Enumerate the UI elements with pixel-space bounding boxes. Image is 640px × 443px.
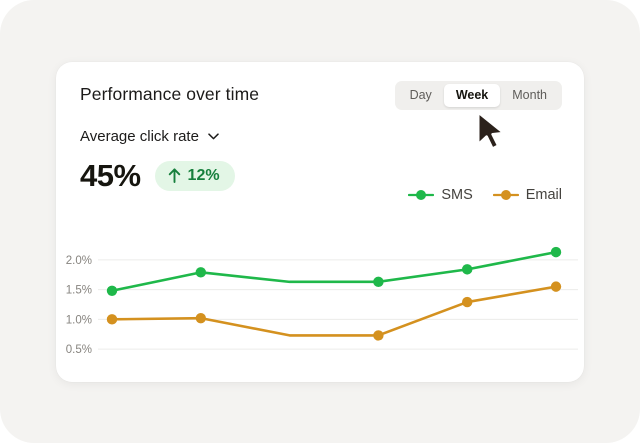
data-point-email[interactable]	[551, 281, 561, 291]
page-root: Performance over time Day Week Month Ave…	[0, 0, 640, 443]
data-point-sms[interactable]	[107, 286, 117, 296]
series-line-sms	[112, 252, 556, 291]
data-point-sms[interactable]	[462, 264, 472, 274]
data-point-sms[interactable]	[551, 247, 561, 257]
chart-legend: SMS Email	[408, 187, 562, 203]
metric-value-row: 45% 12%	[80, 160, 235, 191]
chart-canvas: 0.5%1.0%1.5%2.0%	[56, 230, 584, 370]
tab-month[interactable]: Month	[500, 84, 559, 107]
legend-label-email: Email	[526, 187, 562, 203]
metric-selector-label: Average click rate	[80, 128, 199, 145]
data-point-email[interactable]	[462, 297, 472, 307]
performance-card: Performance over time Day Week Month Ave…	[56, 62, 584, 382]
data-point-email[interactable]	[373, 330, 383, 340]
range-tabs[interactable]: Day Week Month	[395, 81, 562, 110]
chart-series-layer	[107, 247, 561, 341]
tab-week[interactable]: Week	[444, 84, 500, 107]
delta-value: 12%	[188, 168, 220, 184]
legend-marker-email-icon	[493, 189, 519, 201]
legend-label-sms: SMS	[441, 187, 472, 203]
data-point-sms[interactable]	[373, 277, 383, 287]
data-point-email[interactable]	[196, 313, 206, 323]
tab-day[interactable]: Day	[398, 84, 444, 107]
series-line-email	[112, 287, 556, 336]
y-axis-tick-label: 0.5%	[66, 344, 92, 356]
arrow-up-icon	[168, 168, 181, 183]
legend-item-sms[interactable]: SMS	[408, 187, 472, 203]
metric-selector-dropdown[interactable]: Average click rate	[80, 128, 219, 145]
status-badge: 12%	[155, 161, 235, 191]
chart-y-axis-labels: 0.5%1.0%1.5%2.0%	[66, 255, 92, 356]
legend-item-email[interactable]: Email	[493, 187, 562, 203]
y-axis-tick-label: 2.0%	[66, 255, 92, 267]
legend-marker-sms-icon	[408, 189, 434, 201]
y-axis-tick-label: 1.5%	[66, 285, 92, 297]
page-title: Performance over time	[80, 84, 259, 105]
y-axis-tick-label: 1.0%	[66, 314, 92, 326]
chevron-down-icon	[208, 133, 219, 140]
data-point-sms[interactable]	[196, 267, 206, 277]
metric-value: 45%	[80, 160, 141, 191]
data-point-email[interactable]	[107, 314, 117, 324]
line-chart: 0.5%1.0%1.5%2.0%	[56, 230, 584, 370]
